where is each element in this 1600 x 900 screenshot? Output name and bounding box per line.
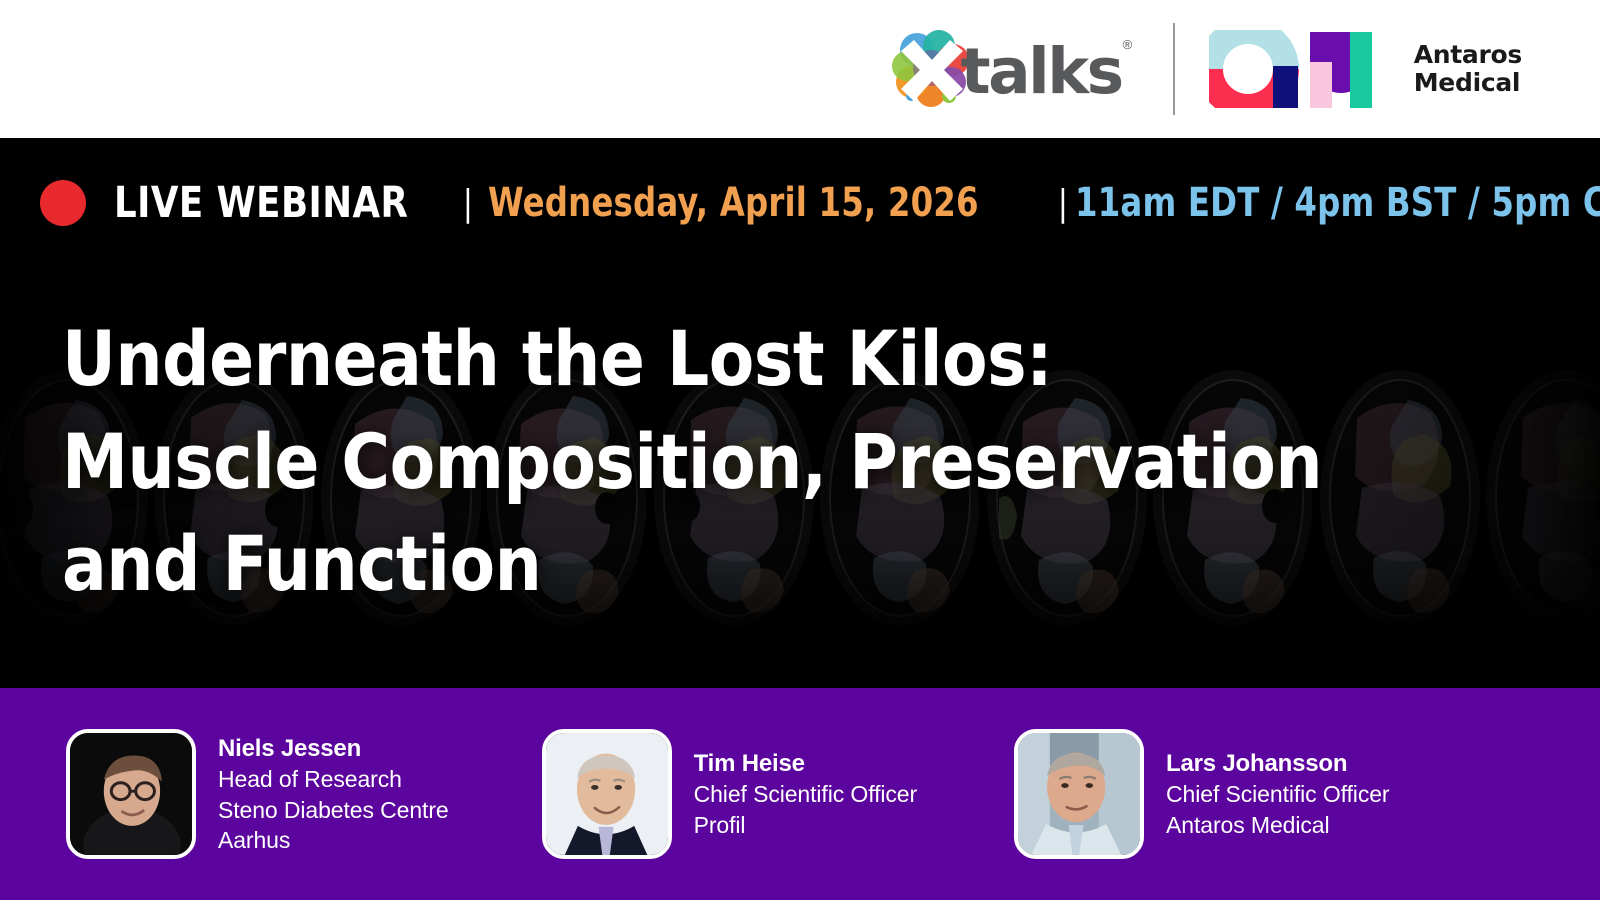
antaros-am-monogram-icon [1209,30,1394,108]
antaros-wordmark: Antaros Medical [1414,41,1522,97]
webinar-time: 11am EDT / 4pm BST / 5pm CEST [1075,180,1600,226]
logo-group: talks® [887,23,1522,115]
banner-separator-1: | [464,183,472,224]
live-webinar-banner: LIVE WEBINAR | Wednesday, April 15, 2026… [40,174,1600,232]
xtalks-wordmark: talks® [961,40,1129,103]
speaker-info: Lars Johansson Chief Scientific Officer … [1166,748,1389,840]
speakers-band: Niels Jessen Head of Research Steno Diab… [0,688,1600,900]
xtalks-word-text: talks [961,35,1122,108]
title-line-3: and Function [62,513,1420,616]
speaker-org: Steno Diabetes Centre [218,795,449,825]
title-line-1: Underneath the Lost Kilos: [62,308,1420,411]
antaros-word-line1: Antaros [1414,41,1522,69]
speaker-card: Tim Heise Chief Scientific Officer Profi… [542,729,917,859]
speaker-role: Head of Research [218,764,449,794]
webinar-promo-card: talks® [0,0,1600,900]
speaker-avatar [1014,729,1144,859]
speaker-role: Chief Scientific Officer [1166,779,1389,809]
live-indicator-dot-icon [40,180,86,226]
xtalks-logo[interactable]: talks® [887,26,1129,112]
live-webinar-label: LIVE WEBINAR [114,178,408,228]
antaros-medical-logo[interactable]: Antaros Medical [1209,30,1522,108]
logo-divider [1173,23,1175,115]
hero-section: LIVE WEBINAR | Wednesday, April 15, 2026… [0,138,1600,688]
webinar-date: Wednesday, April 15, 2026 [488,180,979,226]
logo-bar: talks® [0,0,1600,138]
title-line-2: Muscle Composition, Preservation [62,411,1420,514]
speaker-card: Niels Jessen Head of Research Steno Diab… [66,729,449,859]
speaker-name: Niels Jessen [218,733,449,765]
speaker-avatar [66,729,196,859]
speaker-info: Niels Jessen Head of Research Steno Diab… [218,733,449,856]
speaker-org: Profil [694,810,917,840]
speaker-org-line2: Aarhus [218,825,449,855]
banner-separator-2: | [1059,183,1067,224]
speaker-name: Lars Johansson [1166,748,1389,780]
speaker-org: Antaros Medical [1166,810,1389,840]
antaros-word-line2: Medical [1414,69,1522,97]
speaker-info: Tim Heise Chief Scientific Officer Profi… [694,748,917,840]
webinar-title: Underneath the Lost Kilos: Muscle Compos… [62,308,1462,616]
speaker-name: Tim Heise [694,748,917,780]
speaker-role: Chief Scientific Officer [694,779,917,809]
registered-trademark-icon: ® [1123,37,1130,52]
speaker-avatar [542,729,672,859]
speaker-card: Lars Johansson Chief Scientific Officer … [1014,729,1389,859]
